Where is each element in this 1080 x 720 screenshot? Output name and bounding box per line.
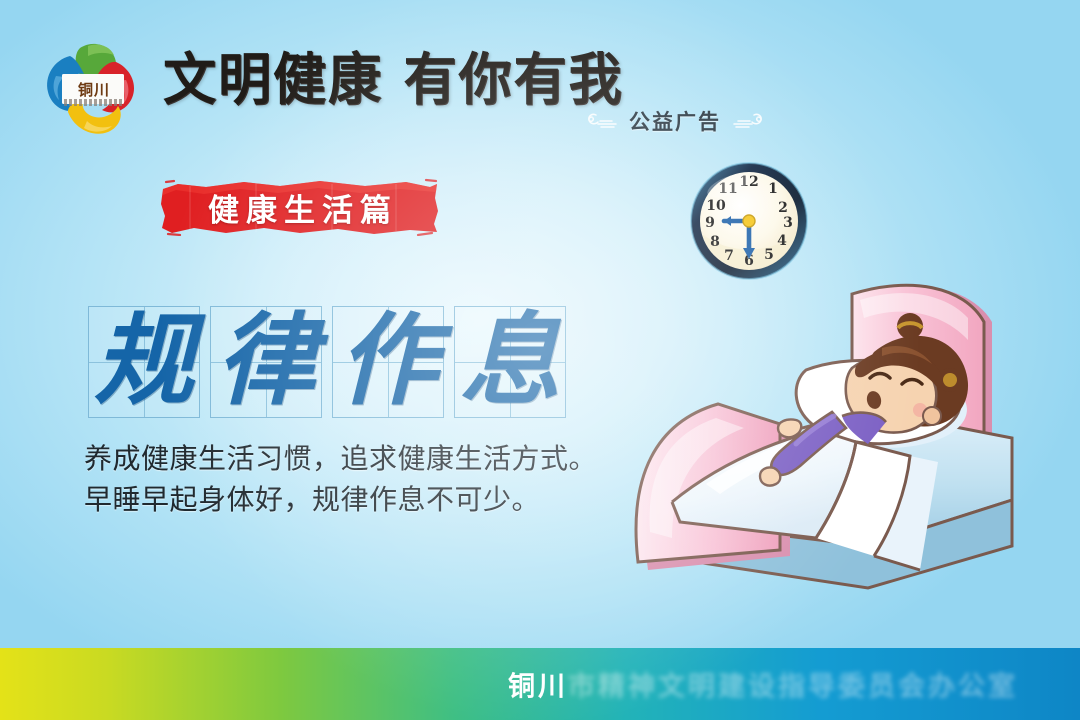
body-copy: 养成健康生活习惯，追求健康生活方式。 早睡早起身体好，规律作息不可少。 [84, 438, 664, 520]
public-service-poster: 铜川 文明健康 有你有我 公益广告 [0, 0, 1080, 720]
clock-center-dot [743, 215, 755, 227]
logo-center-text: 铜川 [68, 78, 120, 100]
girl-hand [760, 467, 780, 485]
headline-cell: 作 [332, 306, 444, 418]
headline-cell: 规 [88, 306, 200, 418]
headline-character-grid: 规 律 作 息 [88, 306, 566, 418]
body-copy-line-2: 早睡早起身体好，规律作息不可少。 [84, 479, 664, 520]
bottom-bar-text: 铜川市精神文明建设指导委员会办公室 [508, 665, 1018, 704]
ad-tag-label: 公益广告 [629, 106, 721, 136]
svg-text:10: 10 [706, 198, 726, 214]
poster-header: 铜川 文明健康 有你有我 公益广告 [0, 34, 1080, 130]
girl-hand [778, 419, 801, 437]
poster-slogan: 文明健康 有你有我 [163, 40, 623, 121]
section-banner: 健康生活篇 [160, 178, 440, 236]
tongchuan-city-logo: 铜川 [40, 42, 144, 142]
body-copy-line-1: 养成健康生活习惯，追求健康生活方式。 [84, 438, 664, 479]
svg-text:1: 1 [768, 181, 778, 197]
headline-character: 作 [332, 304, 444, 416]
svg-text:9: 9 [705, 215, 715, 231]
bottom-bar-text-faded: 市精神文明建设指导委员会办公室 [568, 672, 1018, 703]
cloud-swirl-icon [586, 110, 620, 132]
banner-text: 健康生活篇 [160, 178, 440, 236]
svg-text:2: 2 [778, 200, 788, 216]
headline-cell: 律 [210, 306, 322, 418]
cloud-swirl-icon [730, 110, 764, 132]
headline-cell: 息 [454, 306, 566, 418]
bottom-bar: 铜川市精神文明建设指导委员会办公室 [0, 648, 1080, 720]
girl-sleeping-in-bed-illustration [620, 270, 1080, 650]
svg-text:8: 8 [710, 234, 720, 250]
svg-text:3: 3 [783, 215, 793, 231]
headline-character: 律 [210, 304, 322, 416]
wall-clock: 12 1 2 3 4 5 6 7 8 9 10 11 [688, 160, 810, 282]
headline-character: 规 [88, 304, 200, 416]
logo-subtitle-lines [64, 99, 124, 106]
headline-character: 息 [454, 304, 566, 416]
public-service-ad-tag: 公益广告 [586, 106, 764, 136]
svg-text:5: 5 [764, 247, 774, 263]
svg-text:7: 7 [724, 248, 734, 264]
svg-text:4: 4 [777, 233, 787, 249]
bottom-bar-text-clear: 铜川 [508, 672, 568, 703]
